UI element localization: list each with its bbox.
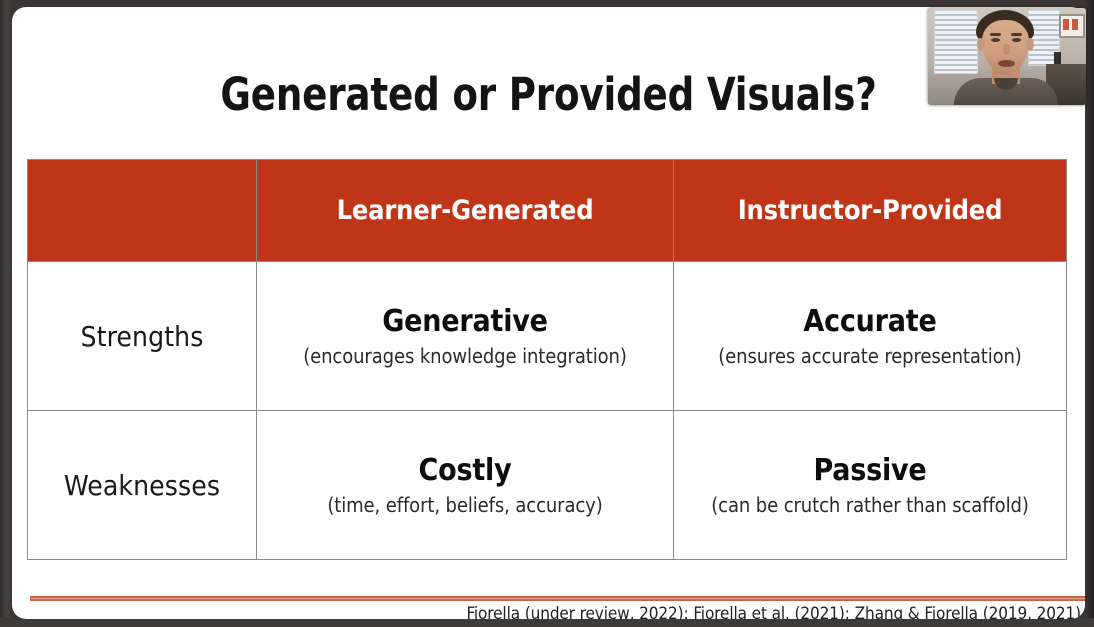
table-row-strengths: Strengths Generative (encourages knowled…: [28, 262, 1067, 411]
webcam-window-blind-left: [934, 10, 978, 74]
row-label-weaknesses: Weaknesses: [64, 469, 220, 502]
webcam-presenter-ear-right: [1026, 38, 1034, 51]
webcam-presenter-eye-right: [1012, 38, 1021, 42]
cell-weaknesses-instructor-provided: Passive (can be crutch rather than scaff…: [674, 411, 1067, 560]
row-label-cell-weaknesses: Weaknesses: [28, 411, 257, 560]
cell-detail-costly: (time, effort, beliefs, accuracy): [257, 492, 673, 518]
frame-edge-bottom: [0, 618, 1094, 627]
cell-weaknesses-learner-generated: Costly (time, effort, beliefs, accuracy): [257, 411, 674, 560]
webcam-presenter-nose: [1003, 44, 1010, 55]
citation-text: Fiorella (under review, 2022); Fiorella …: [466, 604, 1081, 619]
cell-heading-costly: Costly: [257, 453, 673, 489]
cell-heading-generative: Generative: [257, 304, 673, 340]
slide-title: Generated or Provided Visuals?: [55, 70, 1042, 120]
cell-detail-generative: (encourages knowledge integration): [257, 343, 673, 369]
table-header-corner: [28, 160, 257, 262]
table-header: Learner-Generated Instructor-Provided: [28, 160, 1067, 262]
frame-edge-right: [1085, 0, 1094, 627]
cell-heading-passive: Passive: [674, 453, 1066, 489]
frame-edge-top: [0, 0, 1094, 7]
comparison-table: Learner-Generated Instructor-Provided St…: [27, 159, 1067, 560]
cell-heading-accurate: Accurate: [674, 304, 1066, 340]
cell-strengths-instructor-provided: Accurate (ensures accurate representatio…: [674, 262, 1067, 411]
screen-share-view: Generated or Provided Visuals? Learner-G…: [0, 0, 1094, 627]
webcam-presenter-eye-left: [991, 38, 1000, 42]
row-label-strengths: Strengths: [81, 320, 204, 353]
table-header-instructor-provided: Instructor-Provided: [674, 160, 1067, 262]
webcam-presenter-ear-left: [977, 38, 985, 51]
table-body: Strengths Generative (encourages knowled…: [28, 262, 1067, 560]
presenter-video-thumbnail[interactable]: [928, 8, 1086, 105]
webcam-presenter-eyebrow-right: [1011, 33, 1022, 36]
table-row-weaknesses: Weaknesses Costly (time, effort, beliefs…: [28, 411, 1067, 560]
cell-strengths-learner-generated: Generative (encourages knowledge integra…: [257, 262, 674, 411]
webcam-framed-picture: [1059, 14, 1085, 38]
table-header-learner-generated: Learner-Generated: [257, 160, 674, 262]
cell-detail-accurate: (ensures accurate representation): [674, 343, 1066, 369]
cell-detail-passive: (can be crutch rather than scaffold): [674, 492, 1066, 518]
table-header-row: Learner-Generated Instructor-Provided: [28, 160, 1067, 262]
webcam-presenter-eyebrow-left: [990, 33, 1001, 36]
footer-divider-rule: [30, 596, 1085, 601]
frame-edge-left: [0, 0, 12, 627]
row-label-cell-strengths: Strengths: [28, 262, 257, 411]
presentation-slide: Generated or Provided Visuals? Learner-G…: [12, 7, 1085, 619]
webcam-presenter-mouth: [998, 60, 1015, 67]
